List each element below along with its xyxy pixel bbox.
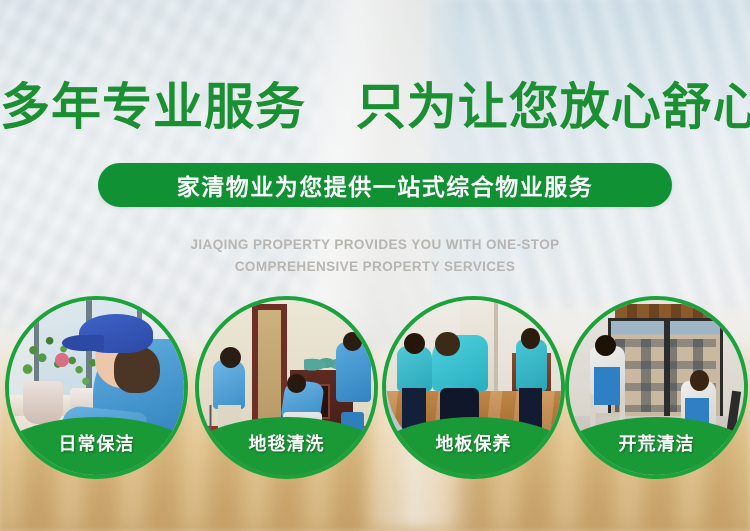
photo1-worker-cap-brim bbox=[62, 335, 104, 351]
service-label-band-1: 日常保洁 bbox=[5, 417, 188, 479]
photo1-worker-hair bbox=[114, 346, 160, 393]
service-circle-move-in-cleaning[interactable]: 开荒清洁 bbox=[565, 296, 748, 479]
photo2-worker3-head bbox=[343, 332, 362, 351]
photo1-flower bbox=[55, 353, 69, 367]
photo3-worker3-head bbox=[521, 328, 540, 349]
service-circle-list: 日常保洁 bbox=[0, 0, 750, 531]
promo-banner: 多年专业服务 只为让您放心舒心 家清物业为您提供一站式综合物业服务 JIAQIN… bbox=[0, 0, 750, 531]
photo4-worker2-head bbox=[690, 370, 709, 391]
service-label-3: 地板保养 bbox=[436, 430, 512, 456]
photo4-worker1-apron bbox=[594, 367, 620, 406]
photo2-worker3-body bbox=[336, 342, 371, 402]
service-label-2: 地毯清洗 bbox=[249, 430, 325, 456]
service-label-band-2: 地毯清洗 bbox=[195, 417, 378, 479]
service-label-4: 开荒清洁 bbox=[619, 430, 695, 456]
photo3-worker1-head bbox=[404, 333, 425, 354]
service-label-band-3: 地板保养 bbox=[382, 417, 565, 479]
service-label-1: 日常保洁 bbox=[59, 430, 135, 456]
photo2-worker2-head bbox=[287, 374, 306, 393]
service-circle-daily-cleaning[interactable]: 日常保洁 bbox=[5, 296, 188, 479]
photo4-window-mullion bbox=[664, 318, 670, 423]
service-circle-carpet-cleaning[interactable]: 地毯清洗 bbox=[195, 296, 378, 479]
service-label-band-4: 开荒清洁 bbox=[565, 417, 748, 479]
service-circle-floor-maintenance[interactable]: 地板保养 bbox=[382, 296, 565, 479]
photo3-worker2-head bbox=[435, 332, 460, 357]
